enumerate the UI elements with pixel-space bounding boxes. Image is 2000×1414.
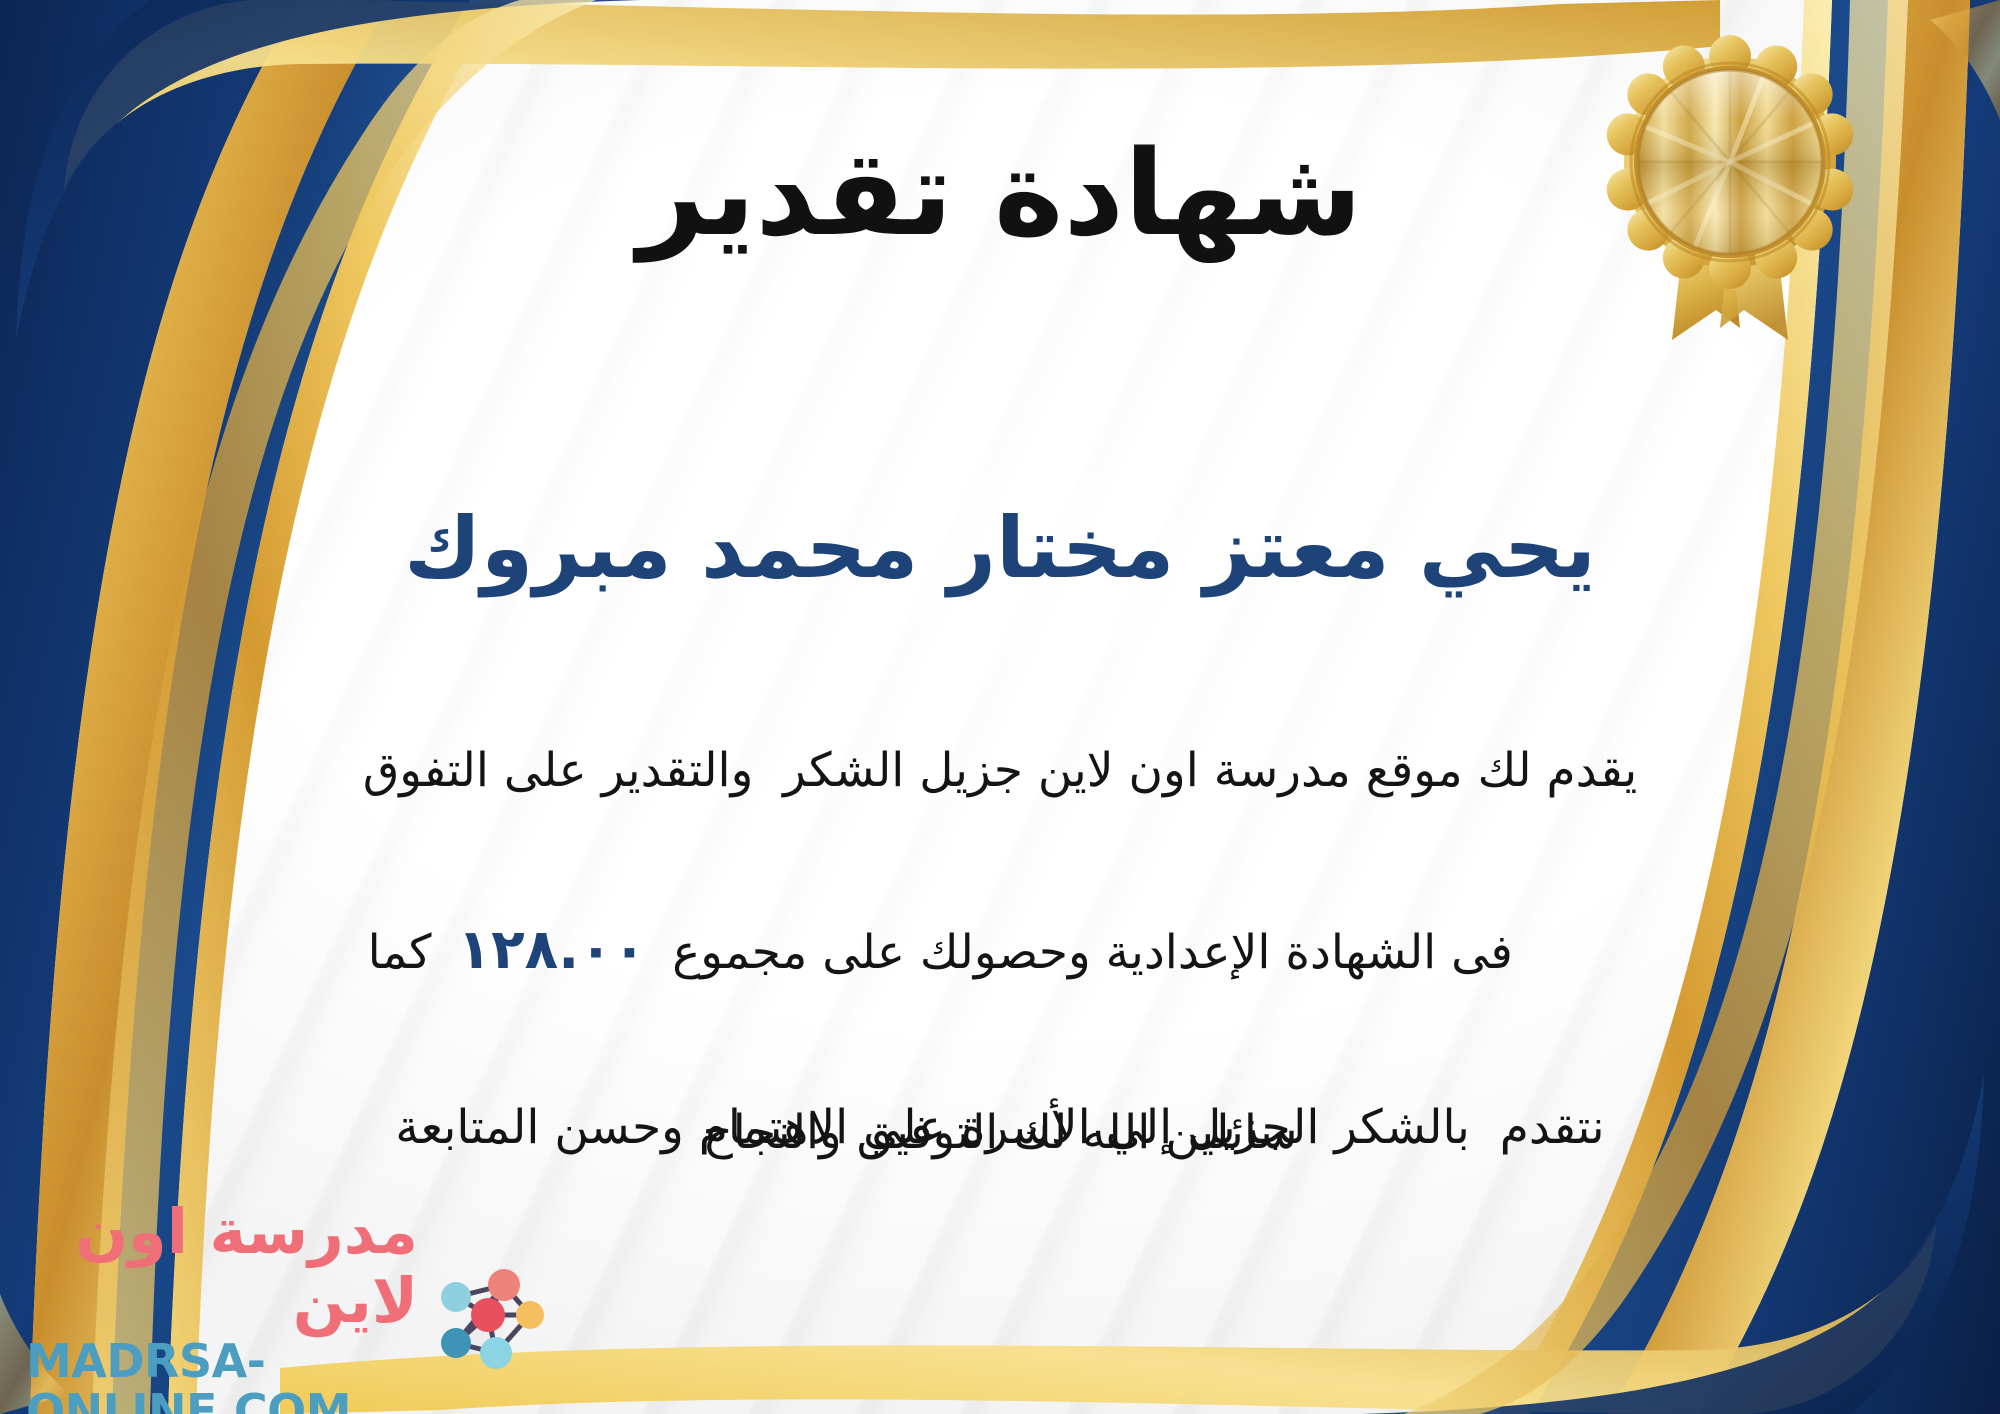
closing-wish: سائلين الله لك التوفيق والنجاح (0, 1105, 2000, 1160)
brand-website: MADRSA-ONLINE.COM (26, 1336, 418, 1414)
certificate-body: يقدم لك موقع مدرسة اون لاين جزيل الشكر و… (70, 728, 1930, 1170)
brand-logo[interactable]: مدرسة اون لاين MADRSA-ONLINE.COM (26, 1242, 546, 1392)
brand-arabic-name: مدرسة اون لاين (26, 1197, 418, 1336)
body-line-2-prefix: فى الشهادة الإعدادية وحصولك على مجموع (672, 925, 1513, 980)
brand-logo-text: مدرسة اون لاين MADRSA-ONLINE.COM (26, 1197, 418, 1414)
body-line-2: فى الشهادة الإعدادية وحصولك على مجموع١٢٨… (70, 814, 1930, 1085)
network-nodes-icon (426, 1257, 546, 1377)
recipient-name: يحي معتز مختار محمد مبروك (0, 500, 2000, 597)
total-score-value: ١٢٨.٠٠ (432, 917, 673, 981)
body-line-1: يقدم لك موقع مدرسة اون لاين جزيل الشكر و… (70, 728, 1930, 814)
certificate-page: شهادة تقدير يحي معتز مختار محمد مبروك يق… (0, 0, 2000, 1414)
body-line-2-suffix: كما (368, 925, 432, 980)
page-title: شهادة تقدير (0, 132, 2000, 256)
